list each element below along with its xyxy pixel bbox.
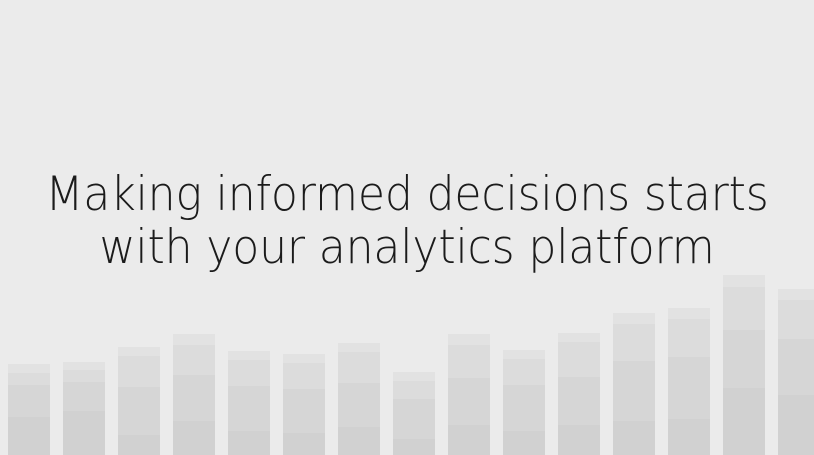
chart-bar-segment <box>558 333 600 342</box>
chart-bar-segment <box>723 330 765 388</box>
hero-slide: Making informed decisions starts with yo… <box>0 0 814 455</box>
chart-bar-segment <box>448 378 490 425</box>
chart-bar <box>668 308 710 455</box>
chart-bar-segment <box>503 431 545 455</box>
chart-bar-segment <box>283 433 325 455</box>
chart-bar-segment <box>228 360 270 386</box>
chart-bar-segment <box>338 343 380 352</box>
chart-bar-segment <box>393 372 435 381</box>
chart-bar-segment <box>558 342 600 377</box>
chart-bar-segment <box>228 431 270 455</box>
chart-bar-segment <box>448 334 490 345</box>
chart-bar-segment <box>448 345 490 378</box>
chart-bar-segment <box>8 385 50 417</box>
chart-bar-segment <box>778 289 814 300</box>
headline-line-1: Making informed decisions starts <box>24 168 789 221</box>
chart-bar-segment <box>63 411 105 455</box>
chart-bar-segment <box>393 381 435 399</box>
chart-bar-segment <box>613 324 655 361</box>
chart-bar-segment <box>173 345 215 375</box>
chart-bar-segment <box>558 425 600 455</box>
chart-bar-segment <box>393 439 435 455</box>
chart-bar-segment <box>173 421 215 455</box>
chart-bar-segment <box>63 382 105 411</box>
chart-bar <box>778 289 814 455</box>
chart-bar <box>723 275 765 455</box>
chart-bar-segment <box>778 339 814 395</box>
headline-line-2: with your analytics platform <box>24 221 789 274</box>
chart-bar <box>503 350 545 455</box>
chart-bar-segment <box>503 359 545 385</box>
chart-bar-segment <box>118 435 160 455</box>
chart-bar-segment <box>558 377 600 425</box>
chart-bar-segment <box>8 417 50 455</box>
chart-bar-segment <box>338 427 380 455</box>
chart-bar-segment <box>668 419 710 455</box>
chart-bar-segment <box>63 362 105 370</box>
page-title: Making informed decisions starts with yo… <box>0 0 814 274</box>
chart-bar-segment <box>118 347 160 356</box>
chart-bar-segment <box>503 350 545 359</box>
chart-bar <box>173 334 215 455</box>
chart-bar-segment <box>668 357 710 419</box>
chart-bar-segment <box>723 287 765 330</box>
chart-bar <box>393 372 435 455</box>
chart-bar-segment <box>63 370 105 382</box>
chart-bar-segment <box>448 425 490 455</box>
chart-bar <box>118 347 160 455</box>
chart-bar <box>283 354 325 455</box>
chart-bar-segment <box>173 375 215 421</box>
chart-bar-segment <box>613 361 655 421</box>
chart-bar-segment <box>283 363 325 389</box>
chart-bar <box>63 362 105 455</box>
chart-bar-segment <box>8 373 50 385</box>
chart-bar <box>448 334 490 455</box>
chart-bar <box>613 313 655 455</box>
chart-bar-segment <box>723 275 765 287</box>
chart-bar-segment <box>613 313 655 324</box>
chart-bar-segment <box>118 356 160 387</box>
chart-bar <box>8 364 50 455</box>
chart-bar-segment <box>8 364 50 373</box>
chart-bar-segment <box>283 389 325 433</box>
chart-bar-segment <box>338 383 380 427</box>
chart-bar-segment <box>173 334 215 345</box>
chart-bar-segment <box>778 395 814 455</box>
chart-bar <box>338 343 380 455</box>
chart-bar-segment <box>393 399 435 439</box>
chart-bar <box>558 333 600 455</box>
chart-bar-segment <box>118 387 160 435</box>
chart-bar-segment <box>503 385 545 431</box>
chart-bar <box>228 351 270 455</box>
chart-bar-segment <box>778 300 814 339</box>
chart-bar-segment <box>228 386 270 431</box>
chart-bar-segment <box>283 354 325 363</box>
chart-bar-segment <box>668 308 710 319</box>
chart-bar-segment <box>668 319 710 357</box>
chart-bar-segment <box>228 351 270 360</box>
chart-bar-segment <box>723 388 765 455</box>
chart-bar-segment <box>338 352 380 383</box>
chart-bar-segment <box>613 421 655 455</box>
